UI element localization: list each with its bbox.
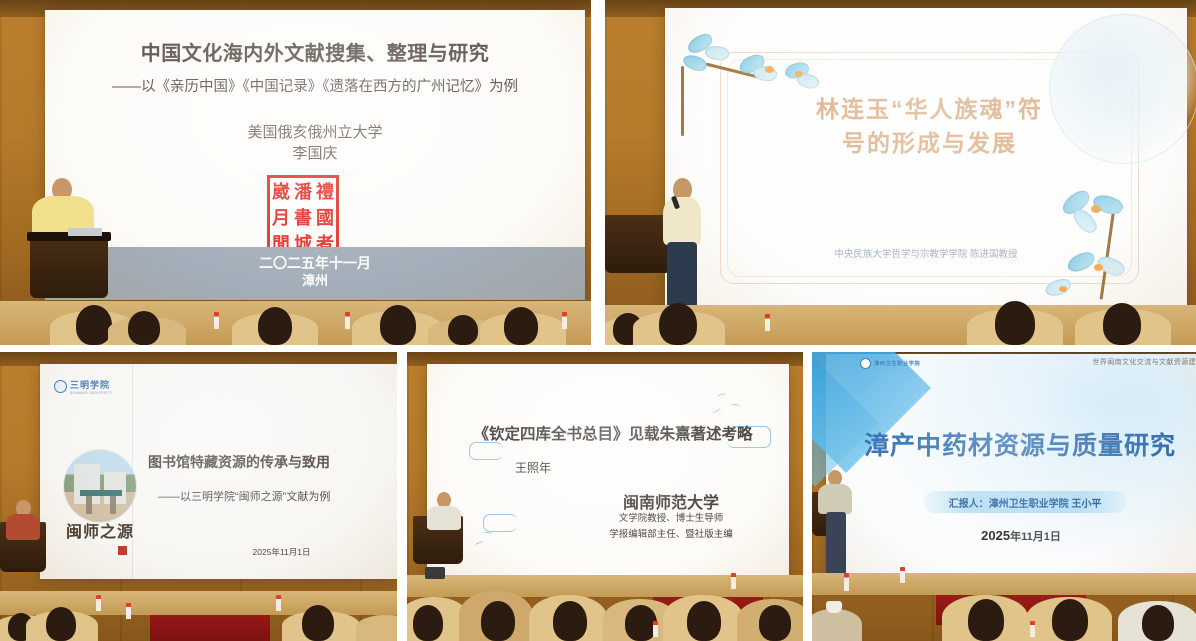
speaker-body — [818, 484, 852, 514]
slide-organization: 闽南师范大学 — [567, 489, 775, 513]
bird-icon — [731, 403, 741, 409]
slide-title-line1: 林连玉“华人族魂”符 — [770, 94, 1089, 125]
slide-footer-date: 二〇二五年十一月 — [45, 247, 585, 273]
water-bottle — [214, 312, 219, 329]
water-bottle — [562, 312, 567, 329]
logo-text: 三明学院 — [70, 378, 113, 391]
seal-char: 潘 — [292, 178, 314, 204]
water-bottle — [345, 312, 350, 329]
water-bottle — [900, 567, 905, 583]
audience-head — [553, 601, 587, 641]
slide-title: 中国文化海内外文献搜集、整理与研究 — [53, 42, 577, 66]
audience-head — [995, 301, 1035, 345]
water-bottle — [731, 573, 736, 589]
water-bottle — [96, 595, 101, 611]
slide-presenter: 李国庆 — [53, 143, 577, 165]
seal-char: 崴 — [270, 178, 292, 204]
slide-title: 图书馆特藏资源的传承与致用 — [148, 452, 391, 472]
audience-head — [1142, 605, 1174, 641]
gate-pillar-shape — [110, 496, 116, 514]
audience-head — [76, 305, 112, 345]
teacup-icon — [826, 601, 842, 613]
speaker-body — [663, 197, 701, 245]
audience-head — [380, 305, 416, 345]
cloud-scroll-icon — [469, 442, 503, 460]
calligraphy-text: 闽师之源 — [60, 524, 140, 541]
flower-petal-icon — [681, 52, 709, 75]
logo-mark-icon — [54, 380, 67, 393]
slide-header-text: 世界闽南文化交流与文献资源建 — [1092, 357, 1196, 367]
projection-screen: 林连玉“华人族魂”符 号的形成与发展 中央民族大学哲学与宗教学学院 陈进国教授 — [665, 8, 1187, 326]
photo-panel-2[interactable]: 林连玉“华人族魂”符 号的形成与发展 中央民族大学哲学与宗教学学院 陈进国教授 — [605, 0, 1196, 345]
audience-head — [1103, 303, 1141, 345]
audience-head — [128, 311, 160, 345]
slide-subtitle: ——以《亲历中国》《中国记录》《遗落在西方的广州记忆》为例 — [53, 78, 577, 97]
water-bottle — [1030, 621, 1035, 637]
slide-title: 漳产中药材资源与质量研究 — [840, 426, 1196, 462]
slide-content-3: 三明学院 SANMING UNIVERSITY 闽师之源 图书馆特藏资源的传承与… — [40, 364, 397, 579]
logo-mark-icon — [860, 358, 871, 369]
audience-head — [481, 601, 515, 641]
slide-affiliation: 美国俄亥俄州立大学 — [53, 122, 577, 144]
campus-photo-circle — [64, 450, 136, 522]
water-bottle — [126, 603, 131, 619]
audience-head — [659, 303, 697, 345]
seal-char: 禮 — [314, 178, 336, 204]
photo-panel-5[interactable]: 漳州卫生职业学院 世界闽南文化交流与文献资源建 漳产中药材资源与质量研究 汇报人… — [812, 352, 1196, 641]
cloud-scroll-icon — [483, 514, 517, 532]
seal-char: 書 — [292, 204, 314, 230]
audience-head — [413, 605, 443, 641]
logo-text: 漳州卫生职业学院 — [874, 360, 920, 367]
audience-shoulder — [356, 615, 397, 641]
audience-head — [759, 605, 791, 641]
photo-panel-4[interactable]: 《钦定四库全书总目》见载朱熹著述考略 王照年 闽南师范大学 文学院教授、博士生导… — [407, 352, 803, 641]
camera-phone-icon — [425, 567, 445, 579]
bird-icon — [717, 393, 727, 400]
slide-presenter-line: 中央民族大学哲学与宗教学学院 陈进国教授 — [745, 246, 1107, 260]
calligraphy-seal-icon — [118, 546, 127, 555]
projection-screen: 中国文化海内外文献搜集、整理与研究 ——以《亲历中国》《中国记录》《遗落在西方的… — [45, 10, 585, 300]
audience-head — [1052, 599, 1088, 641]
flower-center-icon — [1094, 264, 1103, 271]
water-bottle — [276, 595, 281, 611]
water-bottle — [765, 314, 770, 331]
slide-title-line2: 号的形成与发展 — [770, 128, 1089, 159]
photo-panel-1[interactable]: 中国文化海内外文献搜集、整理与研究 ——以《亲历中国》《中国记录》《遗落在西方的… — [0, 0, 591, 345]
audience-head — [968, 599, 1004, 641]
seal-char: 月 — [270, 204, 292, 230]
logo-subtext: SANMING UNIVERSITY — [70, 391, 113, 395]
slide-subtitle: ——以三明学院“闽师之源”文献为例 — [158, 488, 391, 504]
gate-pillar-shape — [86, 496, 92, 514]
audience-row — [0, 567, 397, 641]
zhangzhou-health-college-logo: 漳州卫生职业学院 — [860, 358, 920, 369]
podium — [605, 215, 671, 273]
presenter-pill: 汇报人：漳州卫生职业学院 王小平 — [924, 491, 1126, 513]
seal-char: 國 — [314, 204, 336, 230]
photo-collage: 中国文化海内外文献搜集、整理与研究 ——以《亲历中国》《中国记录》《遗落在西方的… — [0, 0, 1196, 641]
speaker-body — [427, 506, 461, 530]
bird-icon — [713, 408, 723, 416]
flower-center-icon — [765, 66, 774, 73]
audience-row — [605, 287, 1196, 345]
photo-panel-3[interactable]: 三明学院 SANMING UNIVERSITY 闽师之源 图书馆特藏资源的传承与… — [0, 352, 397, 641]
audience-head — [504, 307, 538, 345]
audience-row — [407, 531, 803, 641]
slide-title: 《钦定四库全书总目》见载朱熹著述考略 — [457, 422, 769, 444]
flower-center-icon — [795, 71, 803, 77]
flower-stem — [681, 66, 684, 136]
laptop — [68, 228, 102, 236]
flower-center-icon — [1091, 205, 1101, 213]
presenter-pill-text: 汇报人：漳州卫生职业学院 王小平 — [949, 495, 1102, 510]
audience-head — [258, 307, 292, 345]
audience-head — [687, 601, 721, 641]
audience-head — [46, 607, 76, 641]
seal-stamp: 崴 潘 禮 月 書 國 閒 城 者 — [267, 175, 339, 255]
audience-row — [812, 531, 1196, 641]
slide-content-2: 林连玉“华人族魂”符 号的形成与发展 中央民族大学哲学与宗教学学院 陈进国教授 — [665, 8, 1187, 326]
audience-head — [302, 605, 334, 641]
audience-head — [448, 315, 478, 345]
projection-screen: 三明学院 SANMING UNIVERSITY 闽师之源 图书馆特藏资源的传承与… — [40, 364, 397, 579]
slide-presenter: 王照年 — [427, 459, 639, 476]
water-bottle — [844, 573, 849, 591]
slide-role-line-1: 文学院教授、博士生导师 — [567, 512, 775, 527]
audience-shoulder — [812, 609, 862, 641]
slide-date: 2025年11月1日 — [190, 546, 373, 558]
audience-row — [0, 287, 591, 345]
sanming-university-logo: 三明学院 SANMING UNIVERSITY — [54, 378, 113, 395]
speaker-body — [6, 514, 40, 540]
water-bottle — [653, 621, 658, 637]
